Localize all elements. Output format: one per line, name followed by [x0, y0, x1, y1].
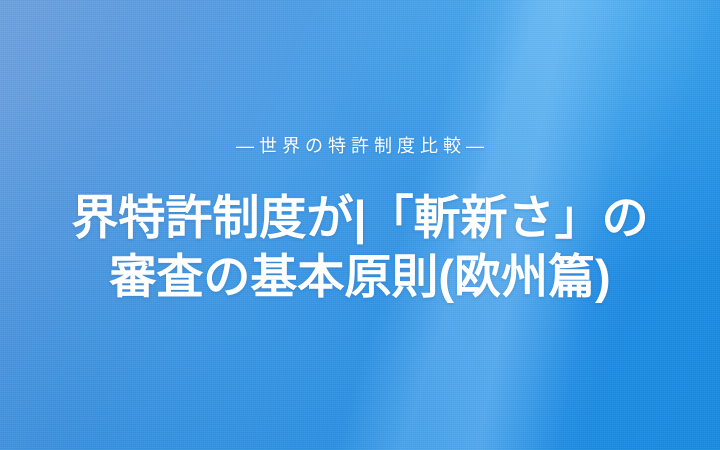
title-line-1-segment-before-cursor: 界特許制度が	[71, 191, 353, 244]
subtitle: —世界の特許制度比較—	[0, 137, 720, 155]
title-line-1-segment-after-cursor: 「斬新さ」の	[367, 191, 649, 244]
text-content-block: —世界の特許制度比較— 界特許制度が|「斬新さ」の 審査の基本原則(欧州篇)	[0, 137, 720, 313]
title-card: —世界の特許制度比較— 界特許制度が|「斬新さ」の 審査の基本原則(欧州篇)	[0, 0, 720, 450]
page-title: 界特許制度が|「斬新さ」の 審査の基本原則(欧州篇)	[0, 189, 720, 307]
title-line-1: 界特許制度が|「斬新さ」の	[0, 189, 720, 248]
title-line-2: 審査の基本原則(欧州篇)	[0, 248, 720, 307]
text-cursor-icon: |	[353, 189, 366, 248]
